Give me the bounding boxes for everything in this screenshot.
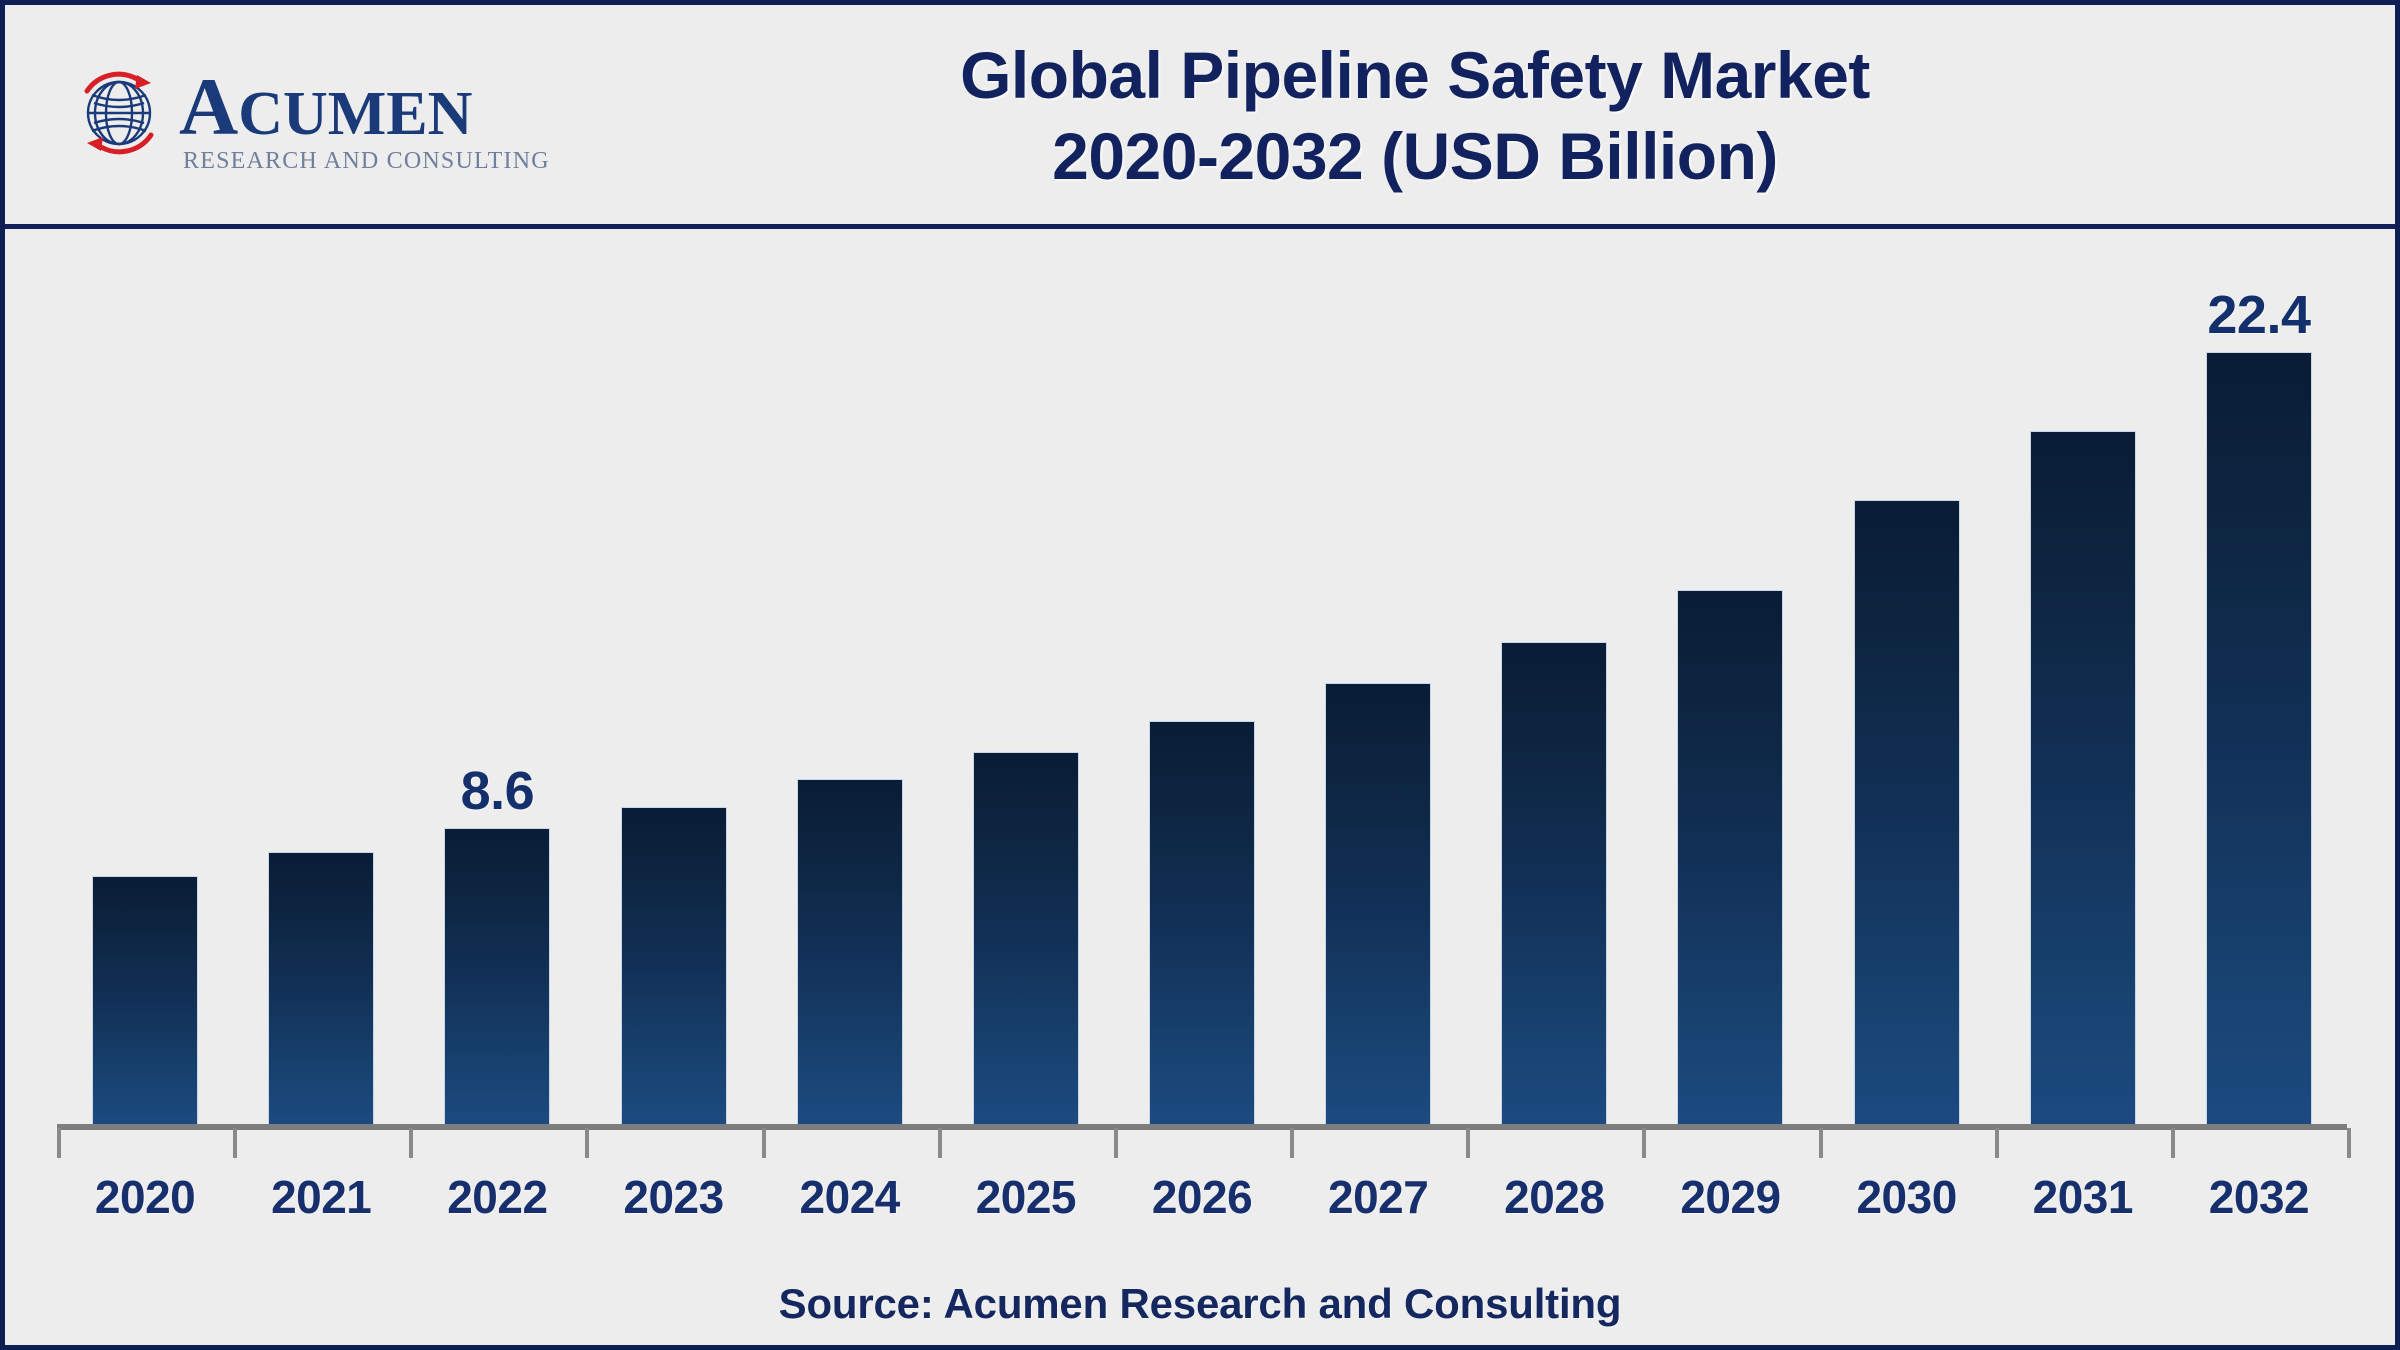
axis-tick	[1642, 1128, 1646, 1158]
logo-name-rest: CUMEN	[238, 80, 472, 148]
axis-tick	[1819, 1128, 1823, 1158]
bar-slot	[57, 234, 233, 1124]
bar-slot	[1290, 234, 1466, 1124]
axis-tick	[1995, 1128, 1999, 1158]
infographic-page: ACUMEN RESEARCH AND CONSULTING Global Pi…	[0, 0, 2400, 1350]
x-axis-label-2031: 2031	[1995, 1170, 2171, 1224]
x-axis-label-2023: 2023	[585, 1170, 761, 1224]
x-axis-label-2025: 2025	[938, 1170, 1114, 1224]
bar-slot: 22.4	[2171, 234, 2347, 1124]
title-line-1: Global Pipeline Safety Market	[565, 35, 2265, 116]
bar-slot	[938, 234, 1114, 1124]
x-axis-labels: 2020202120222023202420252026202720282029…	[57, 1170, 2347, 1224]
bar-2024[interactable]	[797, 779, 903, 1124]
logo-wordmark: ACUMEN RESEARCH AND CONSULTING	[179, 57, 550, 175]
axis-tick	[1114, 1128, 1118, 1158]
bar-slot	[1114, 234, 1290, 1124]
bar-2031[interactable]	[2030, 431, 2136, 1124]
x-axis-ticks	[57, 1124, 2347, 1158]
axis-tick	[2171, 1128, 2175, 1158]
axis-tick	[1466, 1128, 1470, 1158]
bar-2029[interactable]	[1677, 590, 1783, 1124]
bar-slot	[1642, 234, 1818, 1124]
bar-slot	[233, 234, 409, 1124]
x-axis-label-2026: 2026	[1114, 1170, 1290, 1224]
x-axis-label-2030: 2030	[1819, 1170, 1995, 1224]
bar-2023[interactable]	[621, 807, 727, 1124]
axis-tick	[938, 1128, 942, 1158]
axis-tick	[57, 1128, 61, 1158]
logo-tagline: RESEARCH AND CONSULTING	[179, 148, 550, 175]
bar-2030[interactable]	[1854, 500, 1960, 1124]
bar-2025[interactable]	[973, 752, 1079, 1124]
x-axis-label-2027: 2027	[1290, 1170, 1466, 1224]
bar-value-label-2022: 8.6	[461, 760, 535, 822]
x-axis-label-2028: 2028	[1466, 1170, 1642, 1224]
axis-tick	[233, 1128, 237, 1158]
x-axis-label-2029: 2029	[1642, 1170, 1818, 1224]
company-logo: ACUMEN RESEARCH AND CONSULTING	[65, 57, 550, 175]
bar-slot	[762, 234, 938, 1124]
bar-2021[interactable]	[268, 852, 374, 1124]
bar-slot	[1466, 234, 1642, 1124]
x-axis-label-2021: 2021	[233, 1170, 409, 1224]
bar-series: 8.622.4	[57, 234, 2347, 1124]
logo-initial: A	[179, 61, 238, 152]
chart-title: Global Pipeline Safety Market 2020-2032 …	[565, 35, 2265, 196]
x-axis-label-2024: 2024	[762, 1170, 938, 1224]
header-bar: ACUMEN RESEARCH AND CONSULTING Global Pi…	[5, 5, 2395, 229]
x-axis-label-2020: 2020	[57, 1170, 233, 1224]
globe-with-arrows-icon	[65, 57, 173, 165]
logo-company-name: ACUMEN	[179, 69, 472, 144]
bar-slot	[1995, 234, 2171, 1124]
axis-tick	[762, 1128, 766, 1158]
bar-2028[interactable]	[1501, 642, 1607, 1125]
bar-slot	[1819, 234, 1995, 1124]
title-line-2: 2020-2032 (USD Billion)	[565, 116, 2265, 197]
source-note: Source: Acumen Research and Consulting	[5, 1280, 2395, 1328]
axis-tick	[409, 1128, 413, 1158]
bar-2032[interactable]	[2206, 352, 2312, 1124]
x-axis-label-2032: 2032	[2171, 1170, 2347, 1224]
bar-2027[interactable]	[1325, 683, 1431, 1124]
axis-tick	[1290, 1128, 1294, 1158]
axis-tick	[2347, 1128, 2351, 1158]
chart-area: 8.622.4 20202021202220232024202520262027…	[5, 234, 2395, 1350]
bar-slot: 8.6	[409, 234, 585, 1124]
bar-slot	[585, 234, 761, 1124]
bar-value-label-2032: 22.4	[2207, 284, 2310, 346]
x-axis-label-2022: 2022	[409, 1170, 585, 1224]
axis-tick	[585, 1128, 589, 1158]
bar-2022[interactable]	[444, 828, 550, 1124]
plot-region: 8.622.4	[57, 234, 2347, 1124]
bar-2026[interactable]	[1149, 721, 1255, 1124]
bar-2020[interactable]	[92, 876, 198, 1124]
